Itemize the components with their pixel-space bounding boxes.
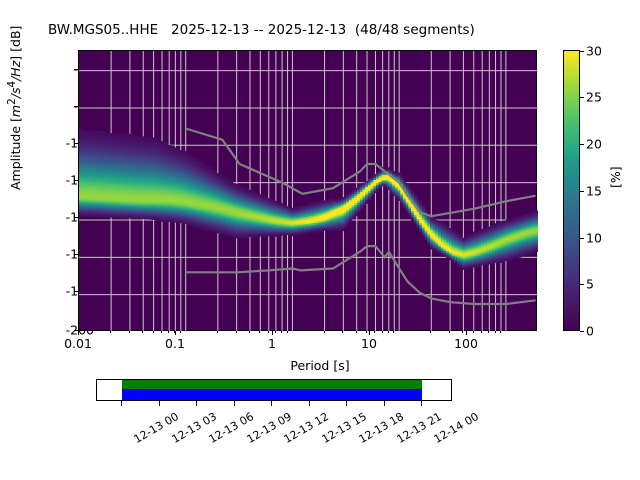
x-minor-tick (161, 331, 162, 333)
colorbar-tick-label: 20 (586, 137, 602, 152)
colorbar-tick-mark (580, 144, 584, 145)
colorbar-tick-label: 0 (586, 324, 594, 339)
colorbar-tick-label: 10 (586, 231, 602, 246)
x-tick-mark (272, 331, 273, 335)
x-minor-tick (180, 331, 181, 333)
x-minor-tick (281, 331, 282, 333)
colorbar-tick-label: 30 (586, 44, 602, 59)
timeline-tick-mark (196, 401, 197, 406)
x-minor-tick (236, 331, 237, 333)
ppsd-canvas (79, 51, 538, 332)
x-minor-tick (168, 331, 169, 333)
x-tick-label: 0.01 (64, 336, 92, 351)
x-minor-tick (129, 331, 130, 333)
colorbar-tick-mark (580, 191, 584, 192)
x-minor-tick (495, 331, 496, 333)
timeline-segments-bar (122, 380, 422, 389)
x-minor-tick (388, 331, 389, 333)
x-tick-mark (369, 331, 370, 335)
timeline-bar[interactable] (96, 379, 452, 401)
x-minor-tick (287, 331, 288, 333)
colorbar-label: [%] (608, 166, 623, 188)
timeline-tick-mark (421, 401, 422, 406)
ppsd-figure: BW.MGS05..HHE 2025-12-13 -- 2025-12-13 (… (0, 0, 640, 480)
x-minor-tick (500, 331, 501, 333)
x-tick-mark (466, 331, 467, 335)
x-minor-tick (174, 331, 175, 333)
timeline-tick-mark (346, 401, 347, 406)
x-minor-tick (462, 331, 463, 333)
timeline-tick-mark (121, 401, 122, 406)
colorbar-tick-label: 5 (586, 277, 594, 292)
x-tick-label: 100 (454, 336, 478, 351)
x-tick-label: 1 (268, 336, 276, 351)
timeline-tick-mark (271, 401, 272, 406)
timeline-tick-mark (234, 401, 235, 406)
colorbar-tick-mark (580, 331, 584, 332)
x-minor-tick (481, 331, 482, 333)
x-tick-label: 10 (361, 336, 377, 351)
x-minor-tick (393, 331, 394, 333)
x-minor-tick (430, 331, 431, 333)
x-minor-tick (110, 331, 111, 333)
x-minor-tick (153, 331, 154, 333)
x-minor-tick (488, 331, 489, 333)
x-minor-tick (142, 331, 143, 333)
x-minor-tick (259, 331, 260, 333)
x-minor-tick (374, 331, 375, 333)
x-minor-tick (382, 331, 383, 333)
timeline-tick-mark (384, 401, 385, 406)
y-axis-label: Amplitude [m2/s4/Hz] [dB] (6, 26, 23, 190)
timeline-tick-mark (309, 401, 310, 406)
x-minor-tick (356, 331, 357, 333)
ppsd-histogram (79, 128, 538, 270)
x-minor-tick (249, 331, 250, 333)
x-tick-mark (78, 331, 79, 335)
x-minor-tick (324, 331, 325, 333)
x-minor-tick (449, 331, 450, 333)
ppsd-plot-area[interactable] (78, 50, 537, 331)
colorbar (563, 50, 580, 331)
x-minor-tick (275, 331, 276, 333)
page-title: BW.MGS05..HHE 2025-12-13 -- 2025-12-13 (… (48, 22, 475, 38)
colorbar-tick-mark (580, 284, 584, 285)
x-minor-tick (268, 331, 269, 333)
colorbar-tick-mark (580, 97, 584, 98)
x-minor-tick (217, 331, 218, 333)
timeline-tick-mark (159, 401, 160, 406)
x-minor-tick (473, 331, 474, 333)
timeline-data-bar (122, 389, 422, 400)
x-minor-tick (342, 331, 343, 333)
x-axis-label: Period [s] (0, 358, 640, 373)
colorbar-tick-mark (580, 238, 584, 239)
x-tick-label: 0.1 (165, 336, 185, 351)
colorbar-tick-mark (580, 51, 584, 52)
colorbar-tick-label: 25 (586, 90, 602, 105)
colorbar-tick-label: 15 (586, 184, 602, 199)
x-minor-tick (366, 331, 367, 333)
